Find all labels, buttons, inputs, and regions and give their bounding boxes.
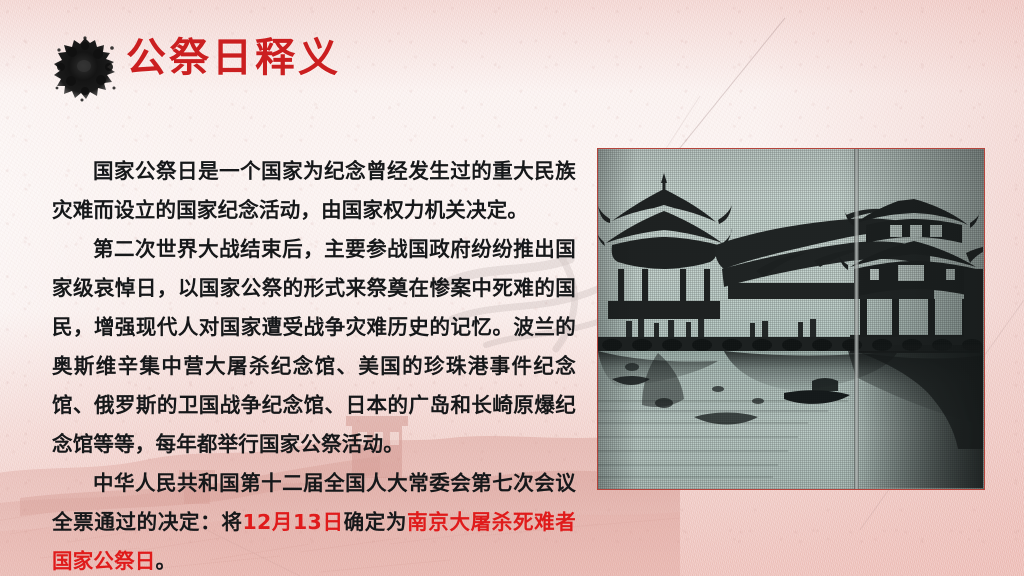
paragraph-3-run-3: 确定为 <box>344 510 408 534</box>
historical-photo <box>597 148 985 490</box>
paragraph-2-run-1: 第二次世界大战结束后，主要参战国政府纷纷推出国家级哀悼日，以国家公祭的形式来祭奠… <box>52 237 576 456</box>
paragraph-1: 国家公祭日是一个国家为纪念曾经发生过的重大民族灾难而设立的国家纪念活动，由国家权… <box>52 152 576 230</box>
body-text-block: 国家公祭日是一个国家为纪念曾经发生过的重大民族灾难而设立的国家纪念活动，由国家权… <box>52 152 576 576</box>
ink-blot-icon <box>52 36 118 102</box>
page-title: 公祭日释义 <box>126 38 341 78</box>
paragraph-3: 中华人民共和国第十二届全国人大常委会第七次会议全票通过的决定：将12月13日确定… <box>52 464 576 576</box>
paragraph-1-run-1: 国家公祭日是一个国家为纪念曾经发生过的重大民族灾难而设立的国家纪念活动，由国家权… <box>52 159 576 222</box>
slide-header: 公祭日释义 <box>0 0 1024 130</box>
paragraph-3-run-5: 。 <box>156 549 177 573</box>
paragraph-2: 第二次世界大战结束后，主要参战国政府纷纷推出国家级哀悼日，以国家公祭的形式来祭奠… <box>52 230 576 464</box>
photo-seam-line <box>854 149 859 489</box>
highlight-date: 12月13日 <box>243 510 344 534</box>
slide-canvas: 公祭日释义 国家公祭日是一个国家为纪念曾经发生过的重大民族灾难而设立的国家纪念活… <box>0 0 1024 576</box>
photo-scene-illustration <box>598 149 983 488</box>
historical-photo-inner <box>598 149 984 489</box>
